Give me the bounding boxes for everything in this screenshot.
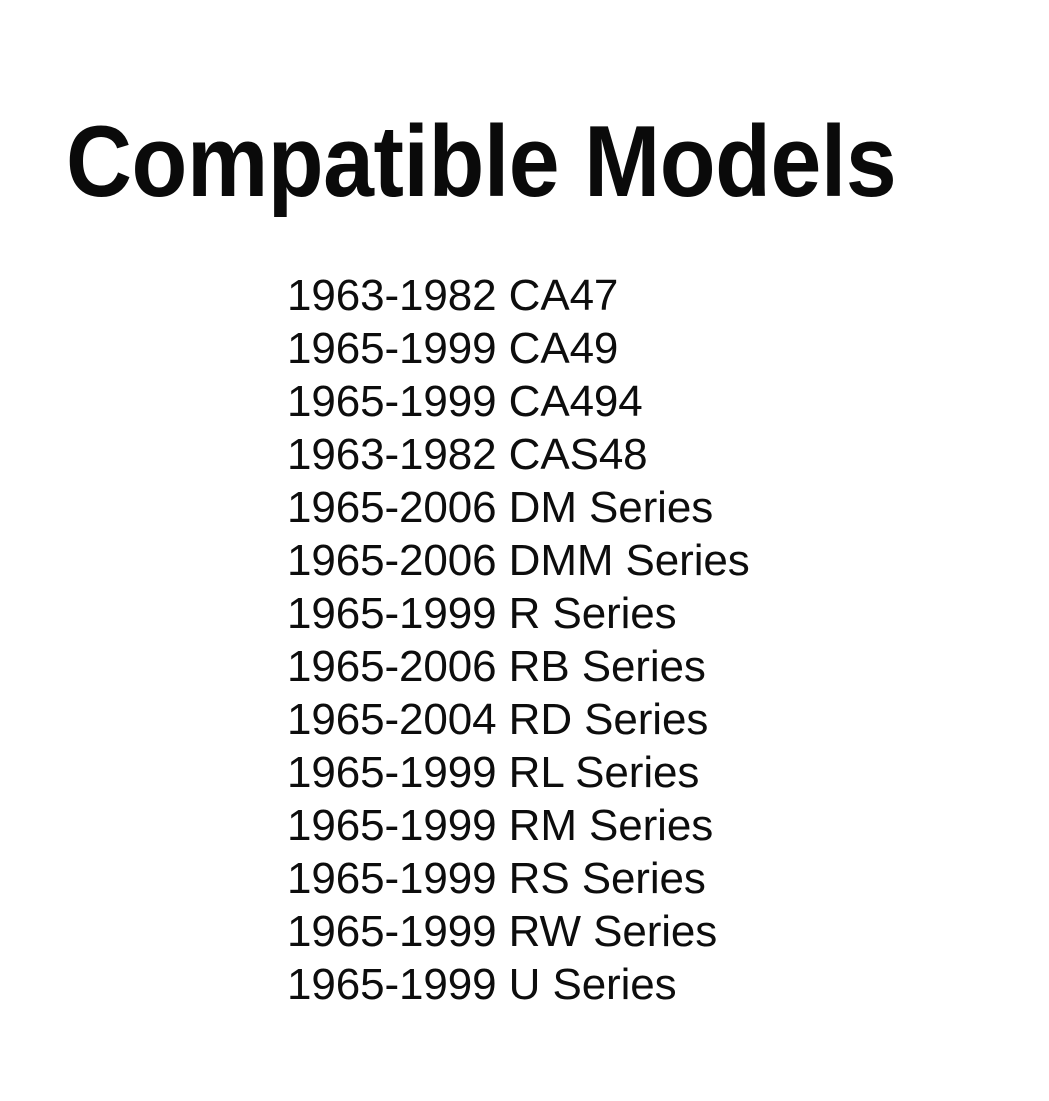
list-item: 1965-2006 DM Series xyxy=(287,481,987,534)
list-item: 1965-1999 R Series xyxy=(287,587,987,640)
list-item: 1963-1982 CA47 xyxy=(287,269,987,322)
list-item: 1965-1999 RM Series xyxy=(287,799,987,852)
list-item: 1965-1999 RL Series xyxy=(287,746,987,799)
page-title: Compatible Models xyxy=(66,112,911,213)
compatible-models-page: Compatible Models 1963-1982 CA47 1965-19… xyxy=(0,0,1049,1101)
title-block: Compatible Models xyxy=(0,0,1049,240)
list-item: 1965-1999 U Series xyxy=(287,958,987,1011)
list-item: 1965-2004 RD Series xyxy=(287,693,987,746)
list-item: 1965-2006 DMM Series xyxy=(287,534,987,587)
list-item: 1965-1999 RW Series xyxy=(287,905,987,958)
list-item: 1965-1999 CA49 xyxy=(287,322,987,375)
list-item: 1965-1999 RS Series xyxy=(287,852,987,905)
list-item: 1965-2006 RB Series xyxy=(287,640,987,693)
compatible-models-list: 1963-1982 CA47 1965-1999 CA49 1965-1999 … xyxy=(287,269,987,1011)
list-item: 1965-1999 CA494 xyxy=(287,375,987,428)
list-item: 1963-1982 CAS48 xyxy=(287,428,987,481)
